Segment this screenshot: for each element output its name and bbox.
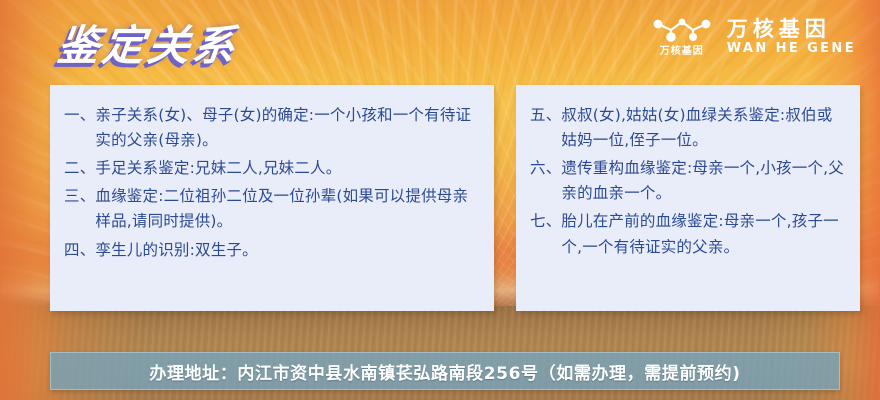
address-text: 办理地址：内江市资中县水南镇苌弘路南段256号（如需办理，需提前预约) [149,359,740,384]
dna-molecule-icon [651,16,713,44]
list-item-number: 一、 [64,103,95,153]
list-item: 七、 胎儿在产前的血缘鉴定:母亲一个,孩子一个,一个有待证实的父亲。 [530,209,846,259]
list-item: 一、 亲子关系(女)、母子(女)的确定:一个小孩和一个有待证实的父亲(母亲)。 [64,103,480,153]
brand-wordmark: 万核基因 WAN HE GENE [727,18,856,56]
list-item: 四、 孪生儿的识别:双生子。 [64,238,480,263]
list-item-text: 遗传重构血缘鉴定:母亲一个,小孩一个,父亲的血亲一个。 [561,156,846,206]
brand-name-cn: 万核基因 [727,18,856,40]
list-item-number: 四、 [64,238,95,263]
list-item-number: 二、 [64,156,95,181]
panel-left: 一、 亲子关系(女)、母子(女)的确定:一个小孩和一个有待证实的父亲(母亲)。 … [50,85,494,311]
brand-name-en: WAN HE GENE [727,42,856,56]
content-panels: 一、 亲子关系(女)、母子(女)的确定:一个小孩和一个有待证实的父亲(母亲)。 … [50,85,860,311]
page-title: 鉴定关系 [54,12,242,73]
list-item: 六、 遗传重构血缘鉴定:母亲一个,小孩一个,父亲的血亲一个。 [530,156,846,206]
list-item: 二、 手足关系鉴定:兄妹二人,兄妹二人。 [64,156,480,181]
list-item-text: 胎儿在产前的血缘鉴定:母亲一个,孩子一个,一个有待证实的父亲。 [561,209,846,259]
panel-right: 五、 叔叔(女),姑姑(女)血绿关系鉴定:叔伯或姑妈一位,侄子一位。 六、 遗传… [516,85,860,311]
poster-root: 鉴定关系 [0,0,880,400]
list-item-text: 孪生儿的识别:双生子。 [95,238,480,263]
list-item: 五、 叔叔(女),姑姑(女)血绿关系鉴定:叔伯或姑妈一位,侄子一位。 [530,103,846,153]
brand-logo: 万核基因 [651,16,713,57]
list-item-number: 六、 [530,156,561,206]
list-item-text: 手足关系鉴定:兄妹二人,兄妹二人。 [95,156,480,181]
list-item-text: 血缘鉴定:二位祖孙二位及一位孙辈(如果可以提供母亲样品,请同时提供)。 [95,184,480,234]
list-item-text: 亲子关系(女)、母子(女)的确定:一个小孩和一个有待证实的父亲(母亲)。 [95,103,480,153]
brand-logo-caption: 万核基因 [660,47,704,57]
list-item-number: 五、 [530,103,561,153]
brand-lockup: 万核基因 万核基因 WAN HE GENE [651,16,856,57]
list-item-text: 叔叔(女),姑姑(女)血绿关系鉴定:叔伯或姑妈一位,侄子一位。 [561,103,846,153]
address-bar: 办理地址：内江市资中县水南镇苌弘路南段256号（如需办理，需提前预约) [50,352,840,390]
list-item-number: 七、 [530,209,561,259]
list-item: 三、 血缘鉴定:二位祖孙二位及一位孙辈(如果可以提供母亲样品,请同时提供)。 [64,184,480,234]
list-item-number: 三、 [64,184,95,234]
